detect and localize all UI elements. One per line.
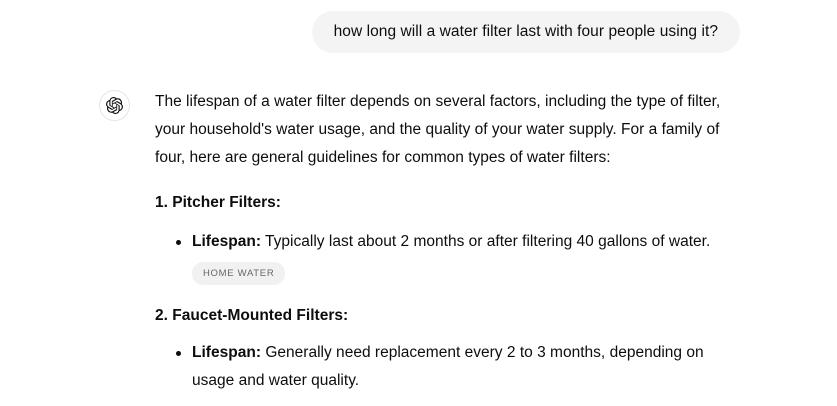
bullet-text: Generally need replacement every 2 to 3 … [192, 344, 704, 389]
section-heading-pitcher-filters: 1. Pitcher Filters: [155, 190, 745, 216]
status-badge: HOME WATER [192, 262, 285, 285]
assistant-intro-paragraph: The lifespan of a water filter depends o… [155, 88, 745, 172]
bullet-list-faucet-mounted-filters: Lifespan: Generally need replacement eve… [155, 339, 745, 395]
list-item: Lifespan: Typically last about 2 months … [155, 228, 745, 256]
user-message-bubble[interactable]: how long will a water filter last with f… [312, 11, 740, 53]
bullet-lead-label: Lifespan: [192, 344, 261, 361]
assistant-avatar [99, 90, 130, 121]
section-heading-faucet-mounted-filters: 2. Faucet-Mounted Filters: [155, 303, 745, 329]
chat-conversation: how long will a water filter last with f… [0, 0, 837, 406]
user-message-row: how long will a water filter last with f… [0, 0, 837, 53]
tag-row: HOME WATER [155, 256, 745, 285]
bullet-text: Typically last about 2 months or after f… [261, 233, 710, 250]
assistant-message-row: The lifespan of a water filter depends o… [0, 88, 837, 395]
bullet-lead-label: Lifespan: [192, 233, 261, 250]
list-item: Lifespan: Generally need replacement eve… [155, 339, 745, 395]
bullet-list-pitcher-filters: Lifespan: Typically last about 2 months … [155, 228, 745, 256]
openai-logo-icon [106, 97, 123, 114]
assistant-message-content: The lifespan of a water filter depends o… [155, 88, 745, 395]
